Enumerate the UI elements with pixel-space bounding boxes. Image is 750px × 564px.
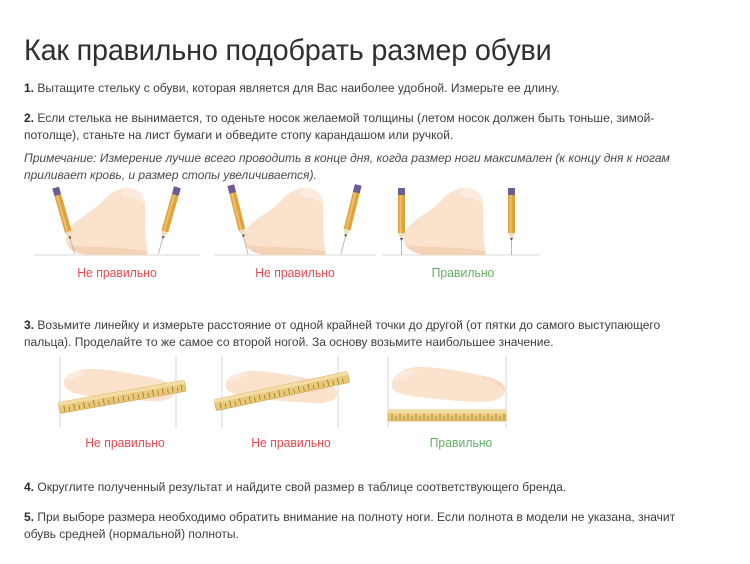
foot-with-tilted-pencils-icon <box>22 182 212 264</box>
illustration-row-rulers: Не правильно <box>0 352 750 457</box>
verdict-label: Правильно <box>371 266 555 281</box>
step-5: 5. При выборе размера необходимо обратит… <box>24 509 709 542</box>
verdict-label: Не правильно <box>33 436 217 451</box>
illustration-cell-pencil-2: Не правильно <box>200 182 390 287</box>
step-5-text: При выборе размера необходимо обратить в… <box>24 510 675 541</box>
step-2-text: Если стелька не вынимается, то оденьте н… <box>24 111 654 142</box>
step-2-number: 2. <box>24 111 34 125</box>
illustration-row-pencils: Не правильно <box>0 182 750 287</box>
foot-with-horizontal-ruler-icon <box>366 352 556 434</box>
step-4-text: Округлите полученный результат и найдите… <box>34 480 566 494</box>
step-1: 1. Вытащите стельку с обуви, которая явл… <box>24 80 709 97</box>
verdict-label: Правильно <box>369 436 553 451</box>
illustration-cell-pencil-1: Не правильно <box>22 182 212 287</box>
foot-with-vertical-pencils-icon <box>368 182 558 264</box>
verdict-label: Не правильно <box>203 266 387 281</box>
foot-with-crossing-ruler-icon <box>196 352 386 434</box>
foot-with-diagonal-ruler-icon <box>30 352 220 434</box>
verdict-label: Не правильно <box>199 436 383 451</box>
step-3-text: Возьмите линейку и измерьте расстояние о… <box>24 318 660 349</box>
illustration-cell-ruler-1: Не правильно <box>30 352 220 457</box>
step-3-number: 3. <box>24 318 34 332</box>
step-1-text: Вытащите стельку с обуви, которая являет… <box>34 81 560 95</box>
illustration-cell-ruler-3: Правильно <box>366 352 556 457</box>
step-5-number: 5. <box>24 510 34 524</box>
verdict-label: Не правильно <box>25 266 209 281</box>
step-3: 3. Возьмите линейку и измерьте расстояни… <box>24 317 709 350</box>
note-paragraph: Примечание: Измерение лучше всего провод… <box>24 150 703 183</box>
foot-with-tilted-pencils-icon <box>200 182 390 264</box>
illustration-cell-pencil-3: Правильно <box>368 182 558 287</box>
step-2: 2. Если стелька не вынимается, то оденьт… <box>24 110 709 143</box>
step-4-number: 4. <box>24 480 34 494</box>
illustration-cell-ruler-2: Не правильно <box>196 352 386 457</box>
step-4: 4. Округлите полученный результат и найд… <box>24 479 709 496</box>
page-title: Как правильно подобрать размер обуви <box>24 34 552 68</box>
page-root: Как правильно подобрать размер обуви 1. … <box>0 0 750 564</box>
step-1-number: 1. <box>24 81 34 95</box>
